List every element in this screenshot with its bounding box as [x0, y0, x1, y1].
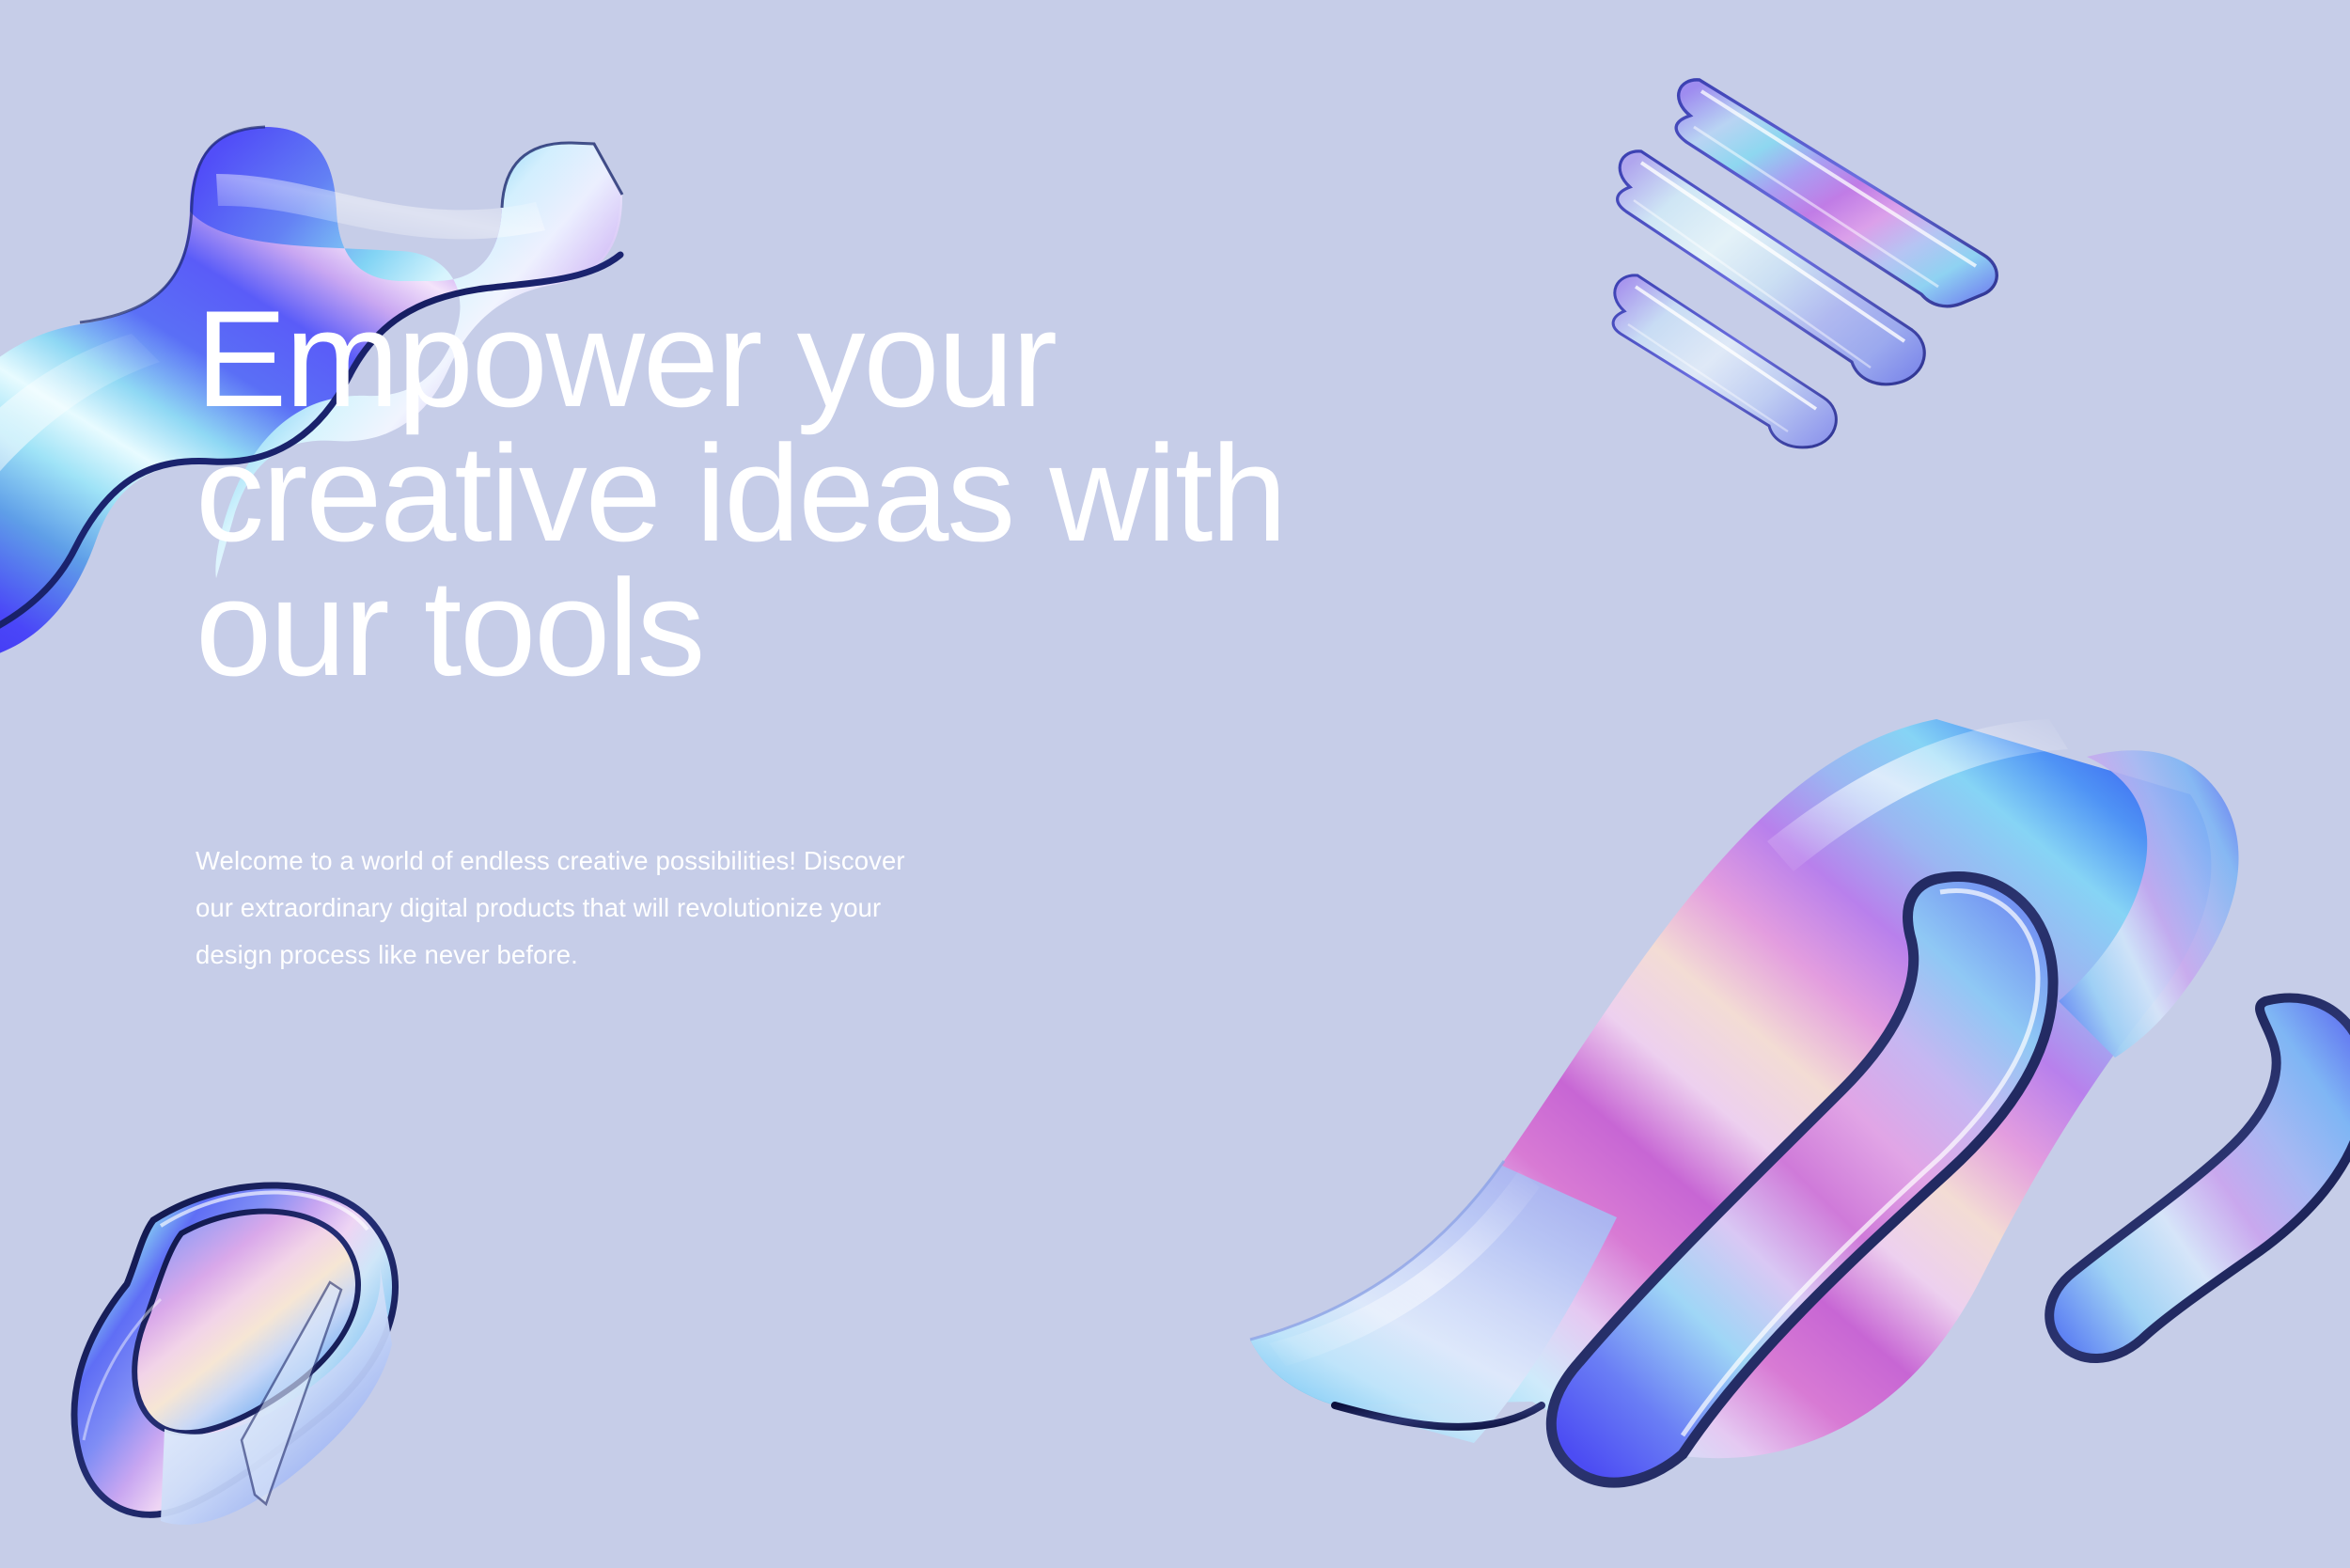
hero-subcopy: Welcome to a world of endless creative p… — [196, 838, 948, 979]
loop-inner-opening — [134, 1212, 358, 1434]
hero-section: Empower your creative ideas with our too… — [0, 0, 2350, 1568]
glass-tube-1 — [1676, 80, 1997, 306]
sheet-outline-bottom — [1335, 1405, 1542, 1427]
ribbon-sheen-b — [216, 174, 545, 239]
loop-tail-flap — [242, 1282, 341, 1504]
ribbon-sheen-a — [0, 334, 160, 578]
sheet-left-panel — [1250, 1165, 1617, 1443]
hero-copy: Empower your creative ideas with our too… — [196, 291, 2132, 979]
ribbon-outline-arm — [502, 143, 622, 208]
rolled-ribbon-loop-decoration — [42, 1158, 456, 1568]
page-title: Empower your creative ideas with our too… — [196, 291, 2132, 695]
loop-front-face — [161, 1260, 392, 1525]
sheet-gloss-b — [1269, 1170, 1540, 1366]
loop-gloss-left — [84, 1299, 161, 1440]
loop-outer-wall — [74, 1185, 395, 1514]
sheet-loop-right — [2049, 997, 2350, 1358]
loop-gloss-top — [161, 1192, 368, 1230]
sheet-outline-left — [1250, 1161, 1504, 1340]
